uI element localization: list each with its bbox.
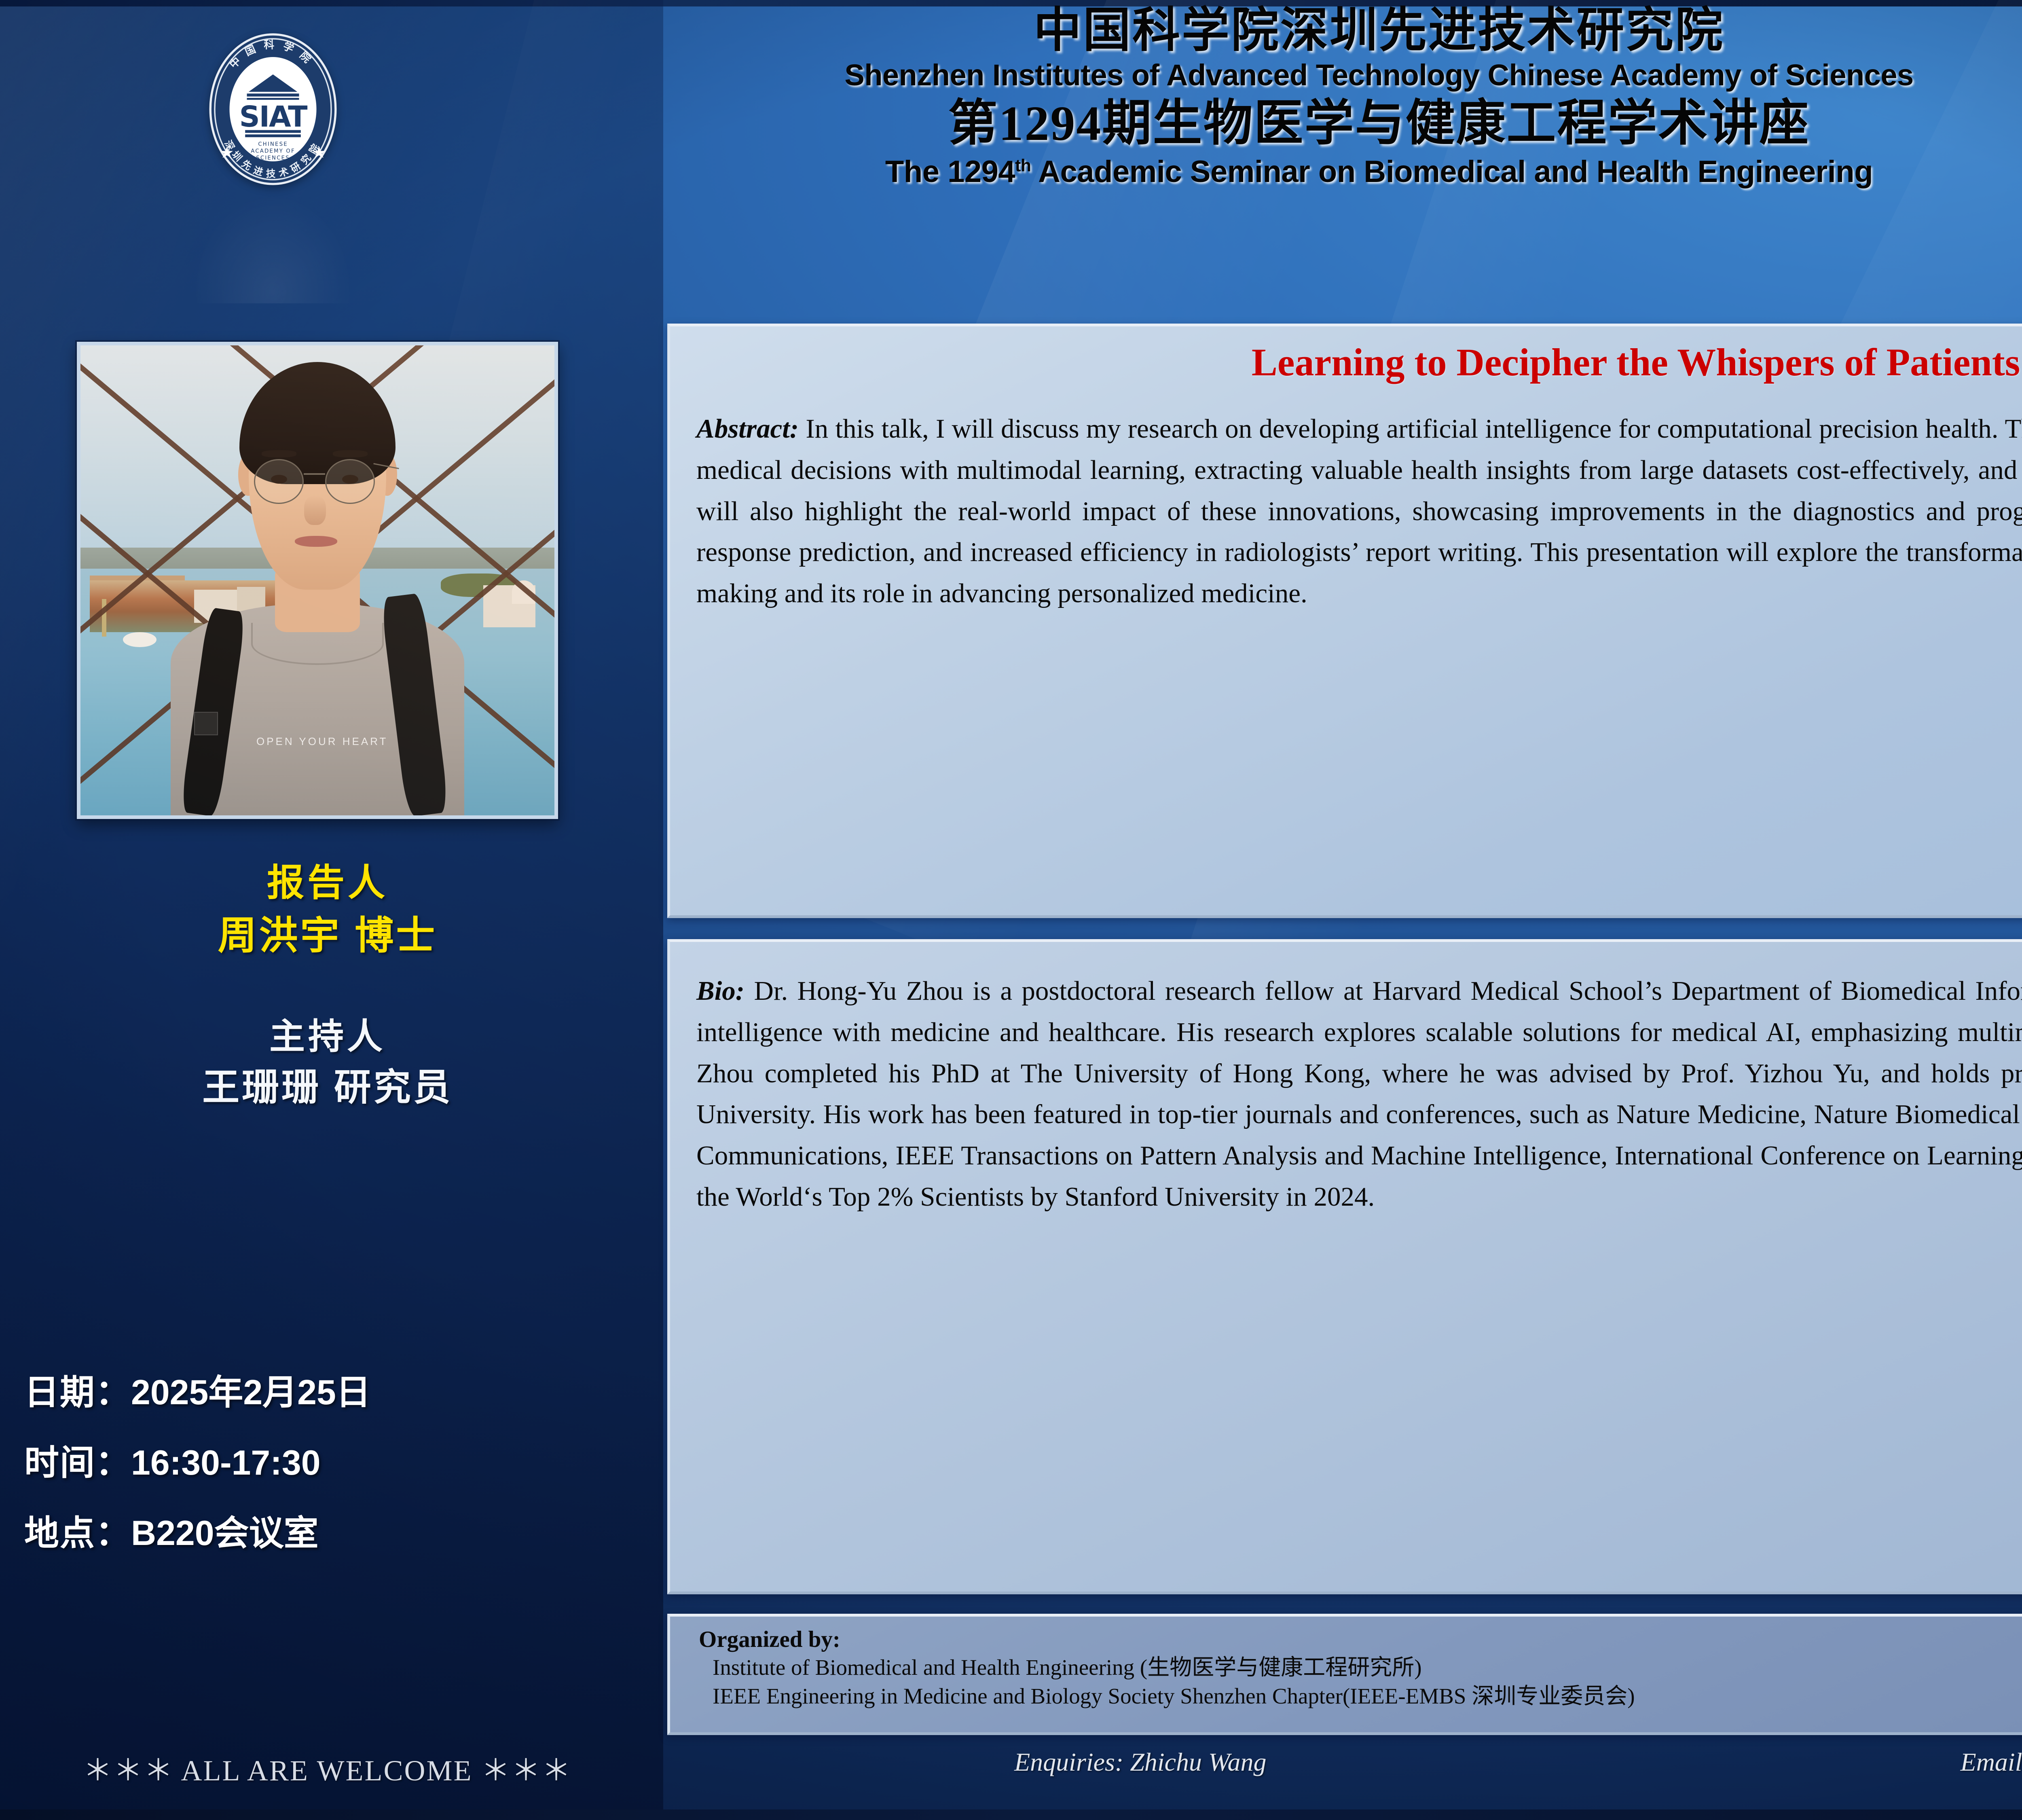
date-label: 日期： <box>24 1373 131 1412</box>
contact-footer: Enquiries: Zhichu Wang Email: zc.wang2@s… <box>667 1747 2022 1777</box>
bio-body: Dr. Hong-Yu Zhou is a postdoctoral resea… <box>696 976 2022 1212</box>
date-value: 2025年2月25日 <box>131 1373 371 1412</box>
svg-text:SIAT: SIAT <box>239 100 307 133</box>
bio-label: Bio: <box>696 976 745 1006</box>
spacer <box>0 963 655 1012</box>
meta-row-date: 日期：2025年2月25日 <box>24 1375 655 1410</box>
seminar-en-post: Academic Seminar on Biomedical and Healt… <box>1031 154 1873 189</box>
speaker-photo: OPEN YOUR HEART <box>77 342 558 819</box>
abstract-body: In this talk, I will discuss my research… <box>696 414 2022 608</box>
seminar-title-en: The 1294th Academic Seminar on Biomedica… <box>510 154 2022 190</box>
svg-text:SCIENCES: SCIENCES <box>256 155 290 161</box>
bottom-edge-bar <box>0 1809 2022 1820</box>
abstract-text: Abstract: In this talk, I will discuss m… <box>696 408 2022 614</box>
time-label: 时间： <box>24 1443 131 1482</box>
siat-logo: 中国科学院 深圳先进技术研究院 SIAT CHINESE ACADEMY OF … <box>186 22 360 196</box>
organized-by-block: Organized by: Institute of Biomedical an… <box>699 1626 2022 1710</box>
svg-text:CHINESE: CHINESE <box>258 141 288 147</box>
organized-by-heading: Organized by: <box>699 1626 2022 1653</box>
meta-row-time: 时间：16:30-17:30 <box>24 1445 655 1480</box>
email-contact[interactable]: Email: zc.wang2@siat.ac.cn <box>1961 1747 2022 1777</box>
talk-title: Learning to Decipher the Whispers of Pat… <box>679 340 2022 385</box>
photo-color-cast <box>80 345 554 815</box>
venue-value: B220会议室 <box>131 1514 319 1553</box>
host-name: 王珊珊 研究员 <box>0 1062 655 1114</box>
poster-canvas: 中国科学院 深圳先进技术研究院 SIAT CHINESE ACADEMY OF … <box>0 0 2022 1820</box>
seminar-ordinal-suffix: th <box>1015 156 1031 176</box>
event-meta-block: 日期：2025年2月25日 时间：16:30-17:30 地点：B220会议室 <box>0 1375 655 1586</box>
org-name-cn: 中国科学院深圳先进技术研究院 <box>510 4 2022 57</box>
all-are-welcome-note: ＊＊＊ ALL ARE WELCOME ＊＊＊ <box>0 1746 655 1789</box>
speaker-name: 周洪宇 博士 <box>0 909 655 963</box>
speaker-host-block: 报告人 周洪宇 博士 主持人 王珊珊 研究员 <box>0 857 655 1113</box>
poster-header: 中国科学院深圳先进技术研究院 Shenzhen Institutes of Ad… <box>510 4 2022 190</box>
seminar-title-cn: 第1294期生物医学与健康工程学术讲座 <box>510 94 2022 153</box>
seminar-en-pre: The 1294 <box>885 154 1015 189</box>
svg-text:ACADEMY OF: ACADEMY OF <box>251 148 295 154</box>
meta-row-venue: 地点：B220会议室 <box>24 1516 655 1551</box>
organizer-line-1: Institute of Biomedical and Health Engin… <box>699 1653 2022 1682</box>
speaker-role-label: 报告人 <box>0 857 655 909</box>
time-value: 16:30-17:30 <box>131 1443 321 1482</box>
org-name-en: Shenzhen Institutes of Advanced Technolo… <box>510 57 2022 93</box>
enquiries-contact: Enquiries: Zhichu Wang <box>1014 1747 1266 1777</box>
logo-reflection <box>190 190 356 303</box>
organizer-line-2: IEEE Engineering in Medicine and Biology… <box>699 1682 2022 1710</box>
bio-text: Bio: Dr. Hong-Yu Zhou is a postdoctoral … <box>696 971 2022 1218</box>
abstract-label: Abstract: <box>696 414 799 444</box>
host-role-label: 主持人 <box>0 1012 655 1061</box>
venue-label: 地点： <box>24 1514 131 1553</box>
